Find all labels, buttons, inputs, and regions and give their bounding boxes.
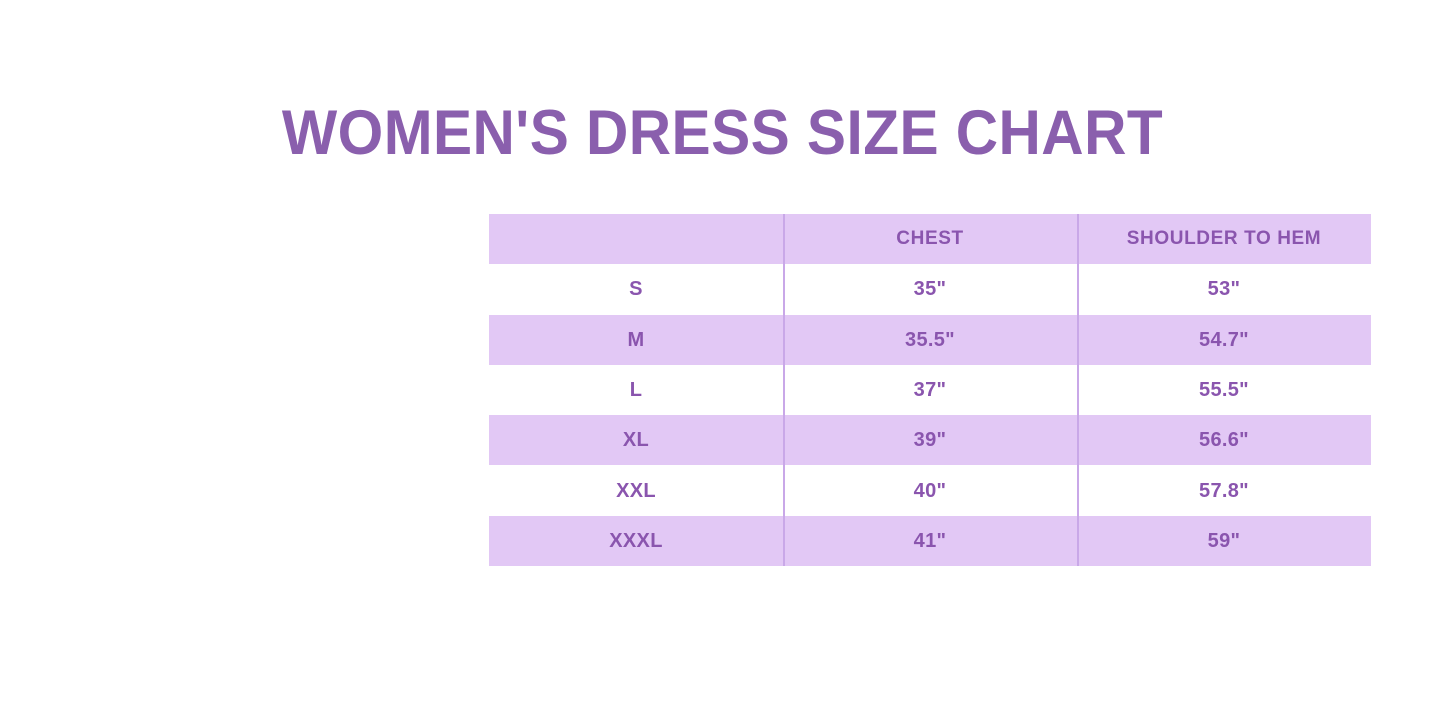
table-row: XXXL 41" 59" [489, 516, 1371, 566]
cell-size: XL [489, 415, 783, 465]
cell-size: M [489, 315, 783, 365]
column-divider-first [783, 214, 785, 566]
cell-chest: 35" [783, 264, 1077, 314]
table-body: S 35" 53" M 35.5" 54.7" L 37" 55.5" XL 3… [489, 264, 1371, 566]
cell-shoulder: 56.6" [1077, 415, 1371, 465]
cell-size: XXXL [489, 516, 783, 566]
cell-chest: 40" [783, 465, 1077, 515]
column-header-chest: CHEST [783, 214, 1077, 264]
table-row: M 35.5" 54.7" [489, 315, 1371, 365]
cell-chest: 41" [783, 516, 1077, 566]
cell-shoulder: 55.5" [1077, 365, 1371, 415]
page-title: WOMEN'S DRESS SIZE CHART [51, 94, 1395, 172]
cell-size: L [489, 365, 783, 415]
cell-shoulder: 54.7" [1077, 315, 1371, 365]
table-row: S 35" 53" [489, 264, 1371, 314]
column-header-shoulder-to-hem: SHOULDER TO HEM [1077, 214, 1371, 264]
column-divider-second [1077, 214, 1079, 566]
cell-size: S [489, 264, 783, 314]
cell-chest: 39" [783, 415, 1077, 465]
column-header-size [489, 214, 783, 264]
table-row: XL 39" 56.6" [489, 415, 1371, 465]
size-chart-table: CHEST SHOULDER TO HEM S 35" 53" M 35.5" … [489, 214, 1371, 566]
table-header: CHEST SHOULDER TO HEM [489, 214, 1371, 264]
cell-shoulder: 57.8" [1077, 465, 1371, 515]
table-header-row: CHEST SHOULDER TO HEM [489, 214, 1371, 264]
size-chart-page: WOMEN'S DRESS SIZE CHART CHEST SHOULDER … [0, 0, 1445, 723]
table-row: L 37" 55.5" [489, 365, 1371, 415]
table-row: XXL 40" 57.8" [489, 465, 1371, 515]
cell-chest: 35.5" [783, 315, 1077, 365]
cell-chest: 37" [783, 365, 1077, 415]
cell-shoulder: 59" [1077, 516, 1371, 566]
cell-size: XXL [489, 465, 783, 515]
cell-shoulder: 53" [1077, 264, 1371, 314]
